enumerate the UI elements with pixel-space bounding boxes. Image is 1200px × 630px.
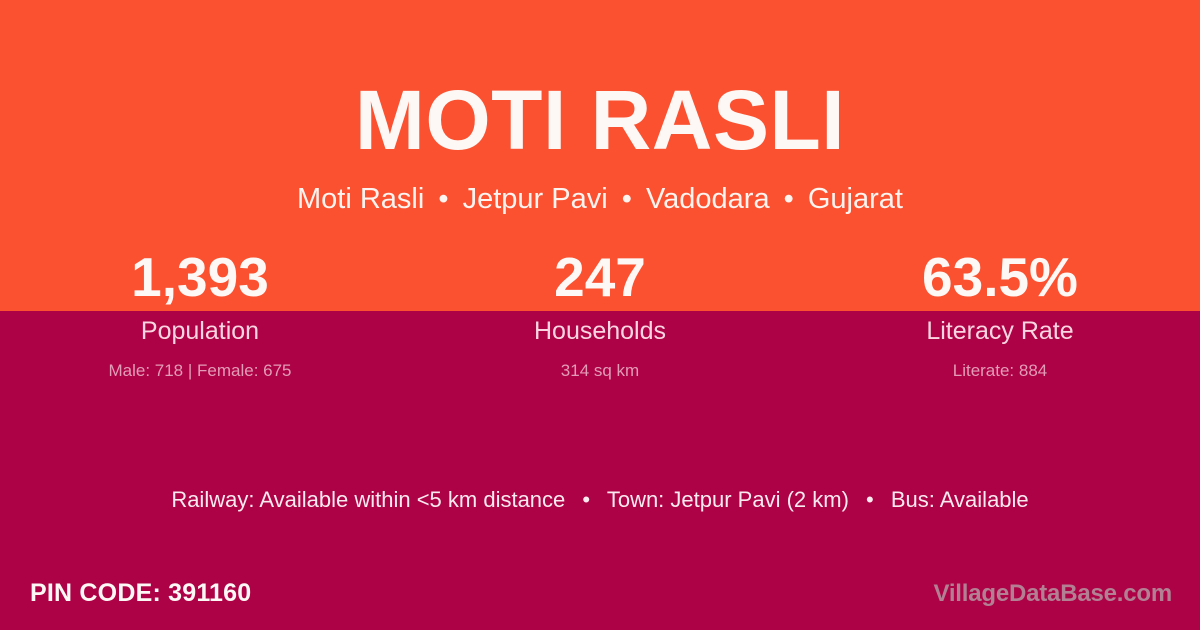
facility-railway: Railway: Available within <5 km distance bbox=[171, 487, 565, 512]
breadcrumb: Moti Rasli • Jetpur Pavi • Vadodara • Gu… bbox=[0, 162, 1200, 215]
facilities-line: Railway: Available within <5 km distance… bbox=[0, 485, 1200, 515]
stat-label: Population bbox=[0, 311, 400, 348]
stat-sublabel: 314 sq km bbox=[400, 348, 800, 383]
stat-label: Households bbox=[400, 311, 800, 348]
breadcrumb-state: Gujarat bbox=[808, 183, 903, 215]
header: MOTI RASLI Moti Rasli • Jetpur Pavi • Va… bbox=[0, 0, 1200, 215]
facility-town: Town: Jetpur Pavi (2 km) bbox=[607, 487, 849, 512]
stat-sublabel: Literate: 884 bbox=[800, 348, 1200, 383]
breadcrumb-separator-icon: • bbox=[616, 184, 638, 215]
facility-separator-icon: • bbox=[855, 485, 885, 515]
breadcrumb-separator-icon: • bbox=[432, 184, 454, 215]
facility-bus: Bus: Available bbox=[891, 487, 1029, 512]
stat-label: Literacy Rate bbox=[800, 311, 1200, 348]
pin-code: PIN CODE: 391160 bbox=[30, 576, 251, 610]
site-watermark: VillageDataBase.com bbox=[933, 578, 1172, 610]
stat-sublabel: Male: 718 | Female: 675 bbox=[0, 348, 400, 383]
stat-value: 247 bbox=[400, 243, 800, 311]
breadcrumb-district: Vadodara bbox=[646, 183, 770, 215]
page-title: MOTI RASLI bbox=[0, 0, 1200, 162]
stat-value: 1,393 bbox=[0, 243, 400, 311]
stats-row: 1,393 Population Male: 718 | Female: 675… bbox=[0, 243, 1200, 383]
breadcrumb-village: Moti Rasli bbox=[297, 183, 424, 215]
stat-value: 63.5% bbox=[800, 243, 1200, 311]
stat-households: 247 Households 314 sq km bbox=[400, 243, 800, 383]
footer: PIN CODE: 391160 VillageDataBase.com bbox=[0, 572, 1200, 630]
stat-population: 1,393 Population Male: 718 | Female: 675 bbox=[0, 243, 400, 383]
breadcrumb-block: Jetpur Pavi bbox=[463, 183, 608, 215]
breadcrumb-separator-icon: • bbox=[778, 184, 800, 215]
village-info-card: MOTI RASLI Moti Rasli • Jetpur Pavi • Va… bbox=[0, 0, 1200, 630]
stat-literacy-rate: 63.5% Literacy Rate Literate: 884 bbox=[800, 243, 1200, 383]
facility-separator-icon: • bbox=[571, 485, 601, 515]
